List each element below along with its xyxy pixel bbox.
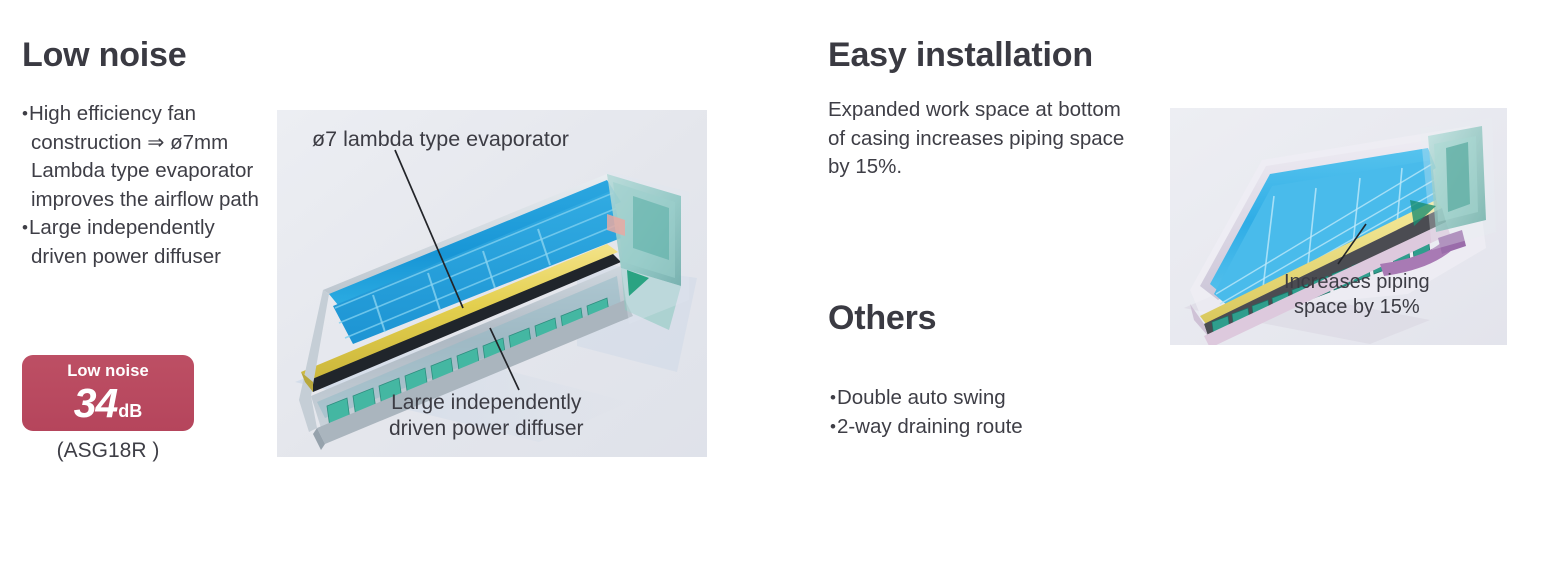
product-image-panel-right: Increases piping space by 15% [1170,108,1507,345]
list-item: 2-way draining route [830,413,1130,442]
page-title-low-noise: Low noise [22,38,186,74]
badge-unit: dB [118,401,142,421]
others-bullet-list: Double auto swing 2-way draining route [830,384,1130,441]
page-title-others: Others [828,301,936,337]
caption-piping: Increases piping space by 15% [1284,270,1430,320]
easy-installation-body: Expanded work space at bottom of casing … [828,96,1128,182]
list-item: Large independently driven power diffuse… [22,214,274,271]
list-item: High efficiency fan construction ⇒ ø7mm … [22,100,274,214]
caption-evaporator: ø7 lambda type evaporator [312,126,569,152]
product-image-panel-left: ø7 lambda type evaporator Large independ… [277,110,707,457]
low-noise-bullet-list: High efficiency fan construction ⇒ ø7mm … [22,100,274,271]
badge-value-row: 34dB [22,380,194,426]
list-item: Double auto swing [830,384,1130,413]
badge-label: Low noise [22,362,194,381]
low-noise-badge-group: Low noise 34dB (ASG18R ) [22,355,197,463]
status-badge: Low noise 34dB [22,355,194,431]
badge-value: 34 [74,380,118,426]
caption-diffuser: Large independently driven power diffuse… [389,390,584,442]
badge-model-label: (ASG18R ) [22,439,194,463]
feature-highlights-page: Low noise High efficiency fan constructi… [0,0,1555,569]
page-title-easy-installation: Easy installation [828,38,1093,74]
